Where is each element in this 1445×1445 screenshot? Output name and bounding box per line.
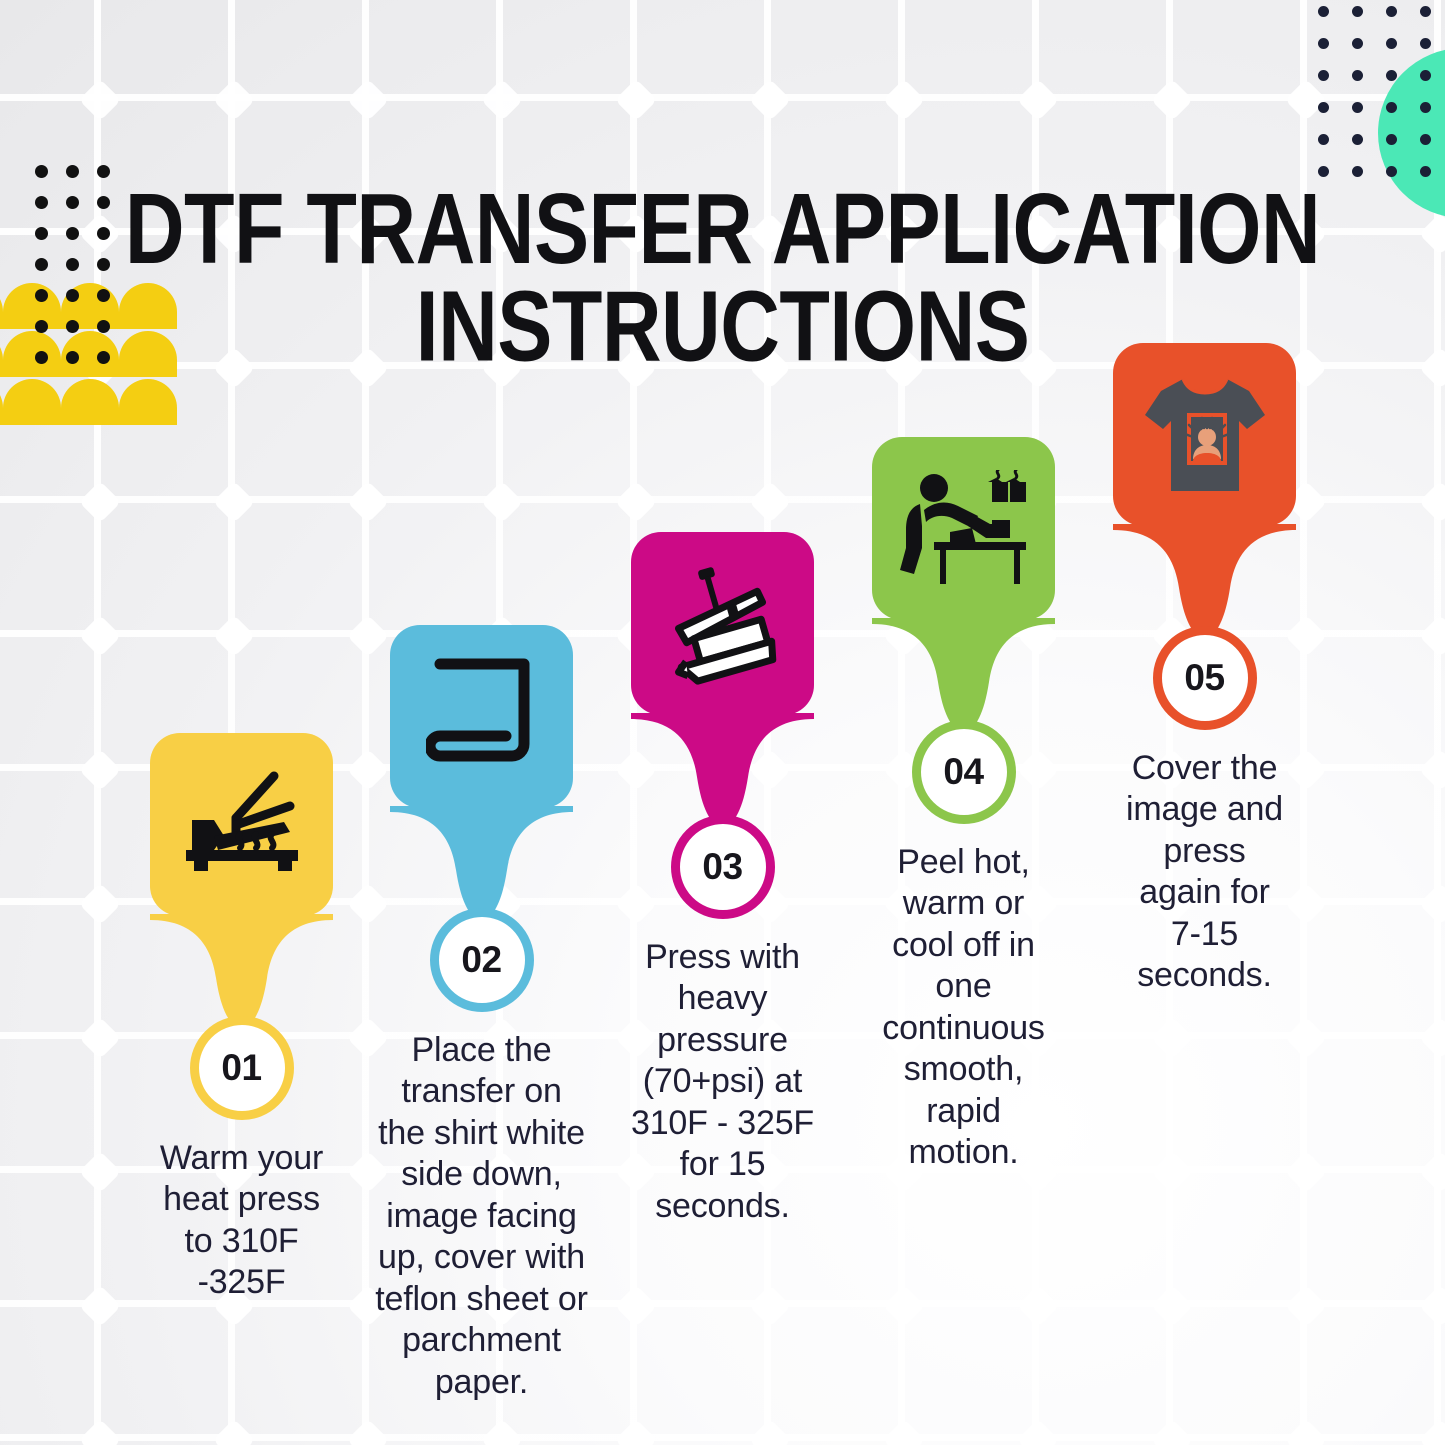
step-05-caption: Cover the image and press again for 7-15…: [1097, 748, 1312, 997]
printed-tshirt-icon: [1139, 371, 1271, 499]
step-05-number-badge[interactable]: 05: [1153, 626, 1257, 730]
step-05: 05Cover the image and press again for 7-…: [1113, 343, 1296, 997]
step-02-connector: [390, 806, 573, 924]
step-03: 03Press with heavy pressure (70+psi) at …: [631, 532, 814, 1227]
step-03-icon-card[interactable]: [631, 532, 814, 715]
step-01-caption: Warm your heat press to 310F -325F: [117, 1138, 367, 1304]
step-02: 02Place the transfer on the shirt white …: [390, 625, 573, 1403]
step-02-icon-card[interactable]: [390, 625, 573, 808]
transfer-sheet-icon: [426, 658, 538, 776]
step-01-connector: [150, 914, 333, 1032]
page-title-line-2: INSTRUCTIONS: [105, 278, 1340, 376]
step-04-caption: Peel hot, warm or cool off in one contin…: [856, 842, 1071, 1174]
step-03-number-badge[interactable]: 03: [671, 815, 775, 919]
step-03-caption: Press with heavy pressure (70+psi) at 31…: [608, 937, 838, 1227]
step-03-connector: [631, 713, 814, 831]
page-title: DTF TRANSFER APPLICATION INSTRUCTIONS: [0, 180, 1445, 376]
step-02-number-badge[interactable]: 02: [430, 908, 534, 1012]
step-04-icon-card[interactable]: [872, 437, 1055, 620]
step-05-connector: [1113, 524, 1296, 642]
step-01-icon-card[interactable]: [150, 733, 333, 916]
step-02-caption: Place the transfer on the shirt white si…: [349, 1030, 614, 1403]
heat-press-machine-icon: [661, 562, 785, 686]
step-04-number-badge[interactable]: 04: [912, 720, 1016, 824]
step-01: 01Warm your heat press to 310F -325F: [150, 733, 333, 1304]
page-title-line-1: DTF TRANSFER APPLICATION: [105, 180, 1340, 278]
peel-transfer-person-icon: [894, 470, 1034, 588]
step-01-number-badge[interactable]: 01: [190, 1016, 294, 1120]
heat-press-open-icon: [178, 770, 306, 880]
step-04-connector: [872, 618, 1055, 736]
step-04: 04Peel hot, warm or cool off in one cont…: [872, 437, 1055, 1174]
